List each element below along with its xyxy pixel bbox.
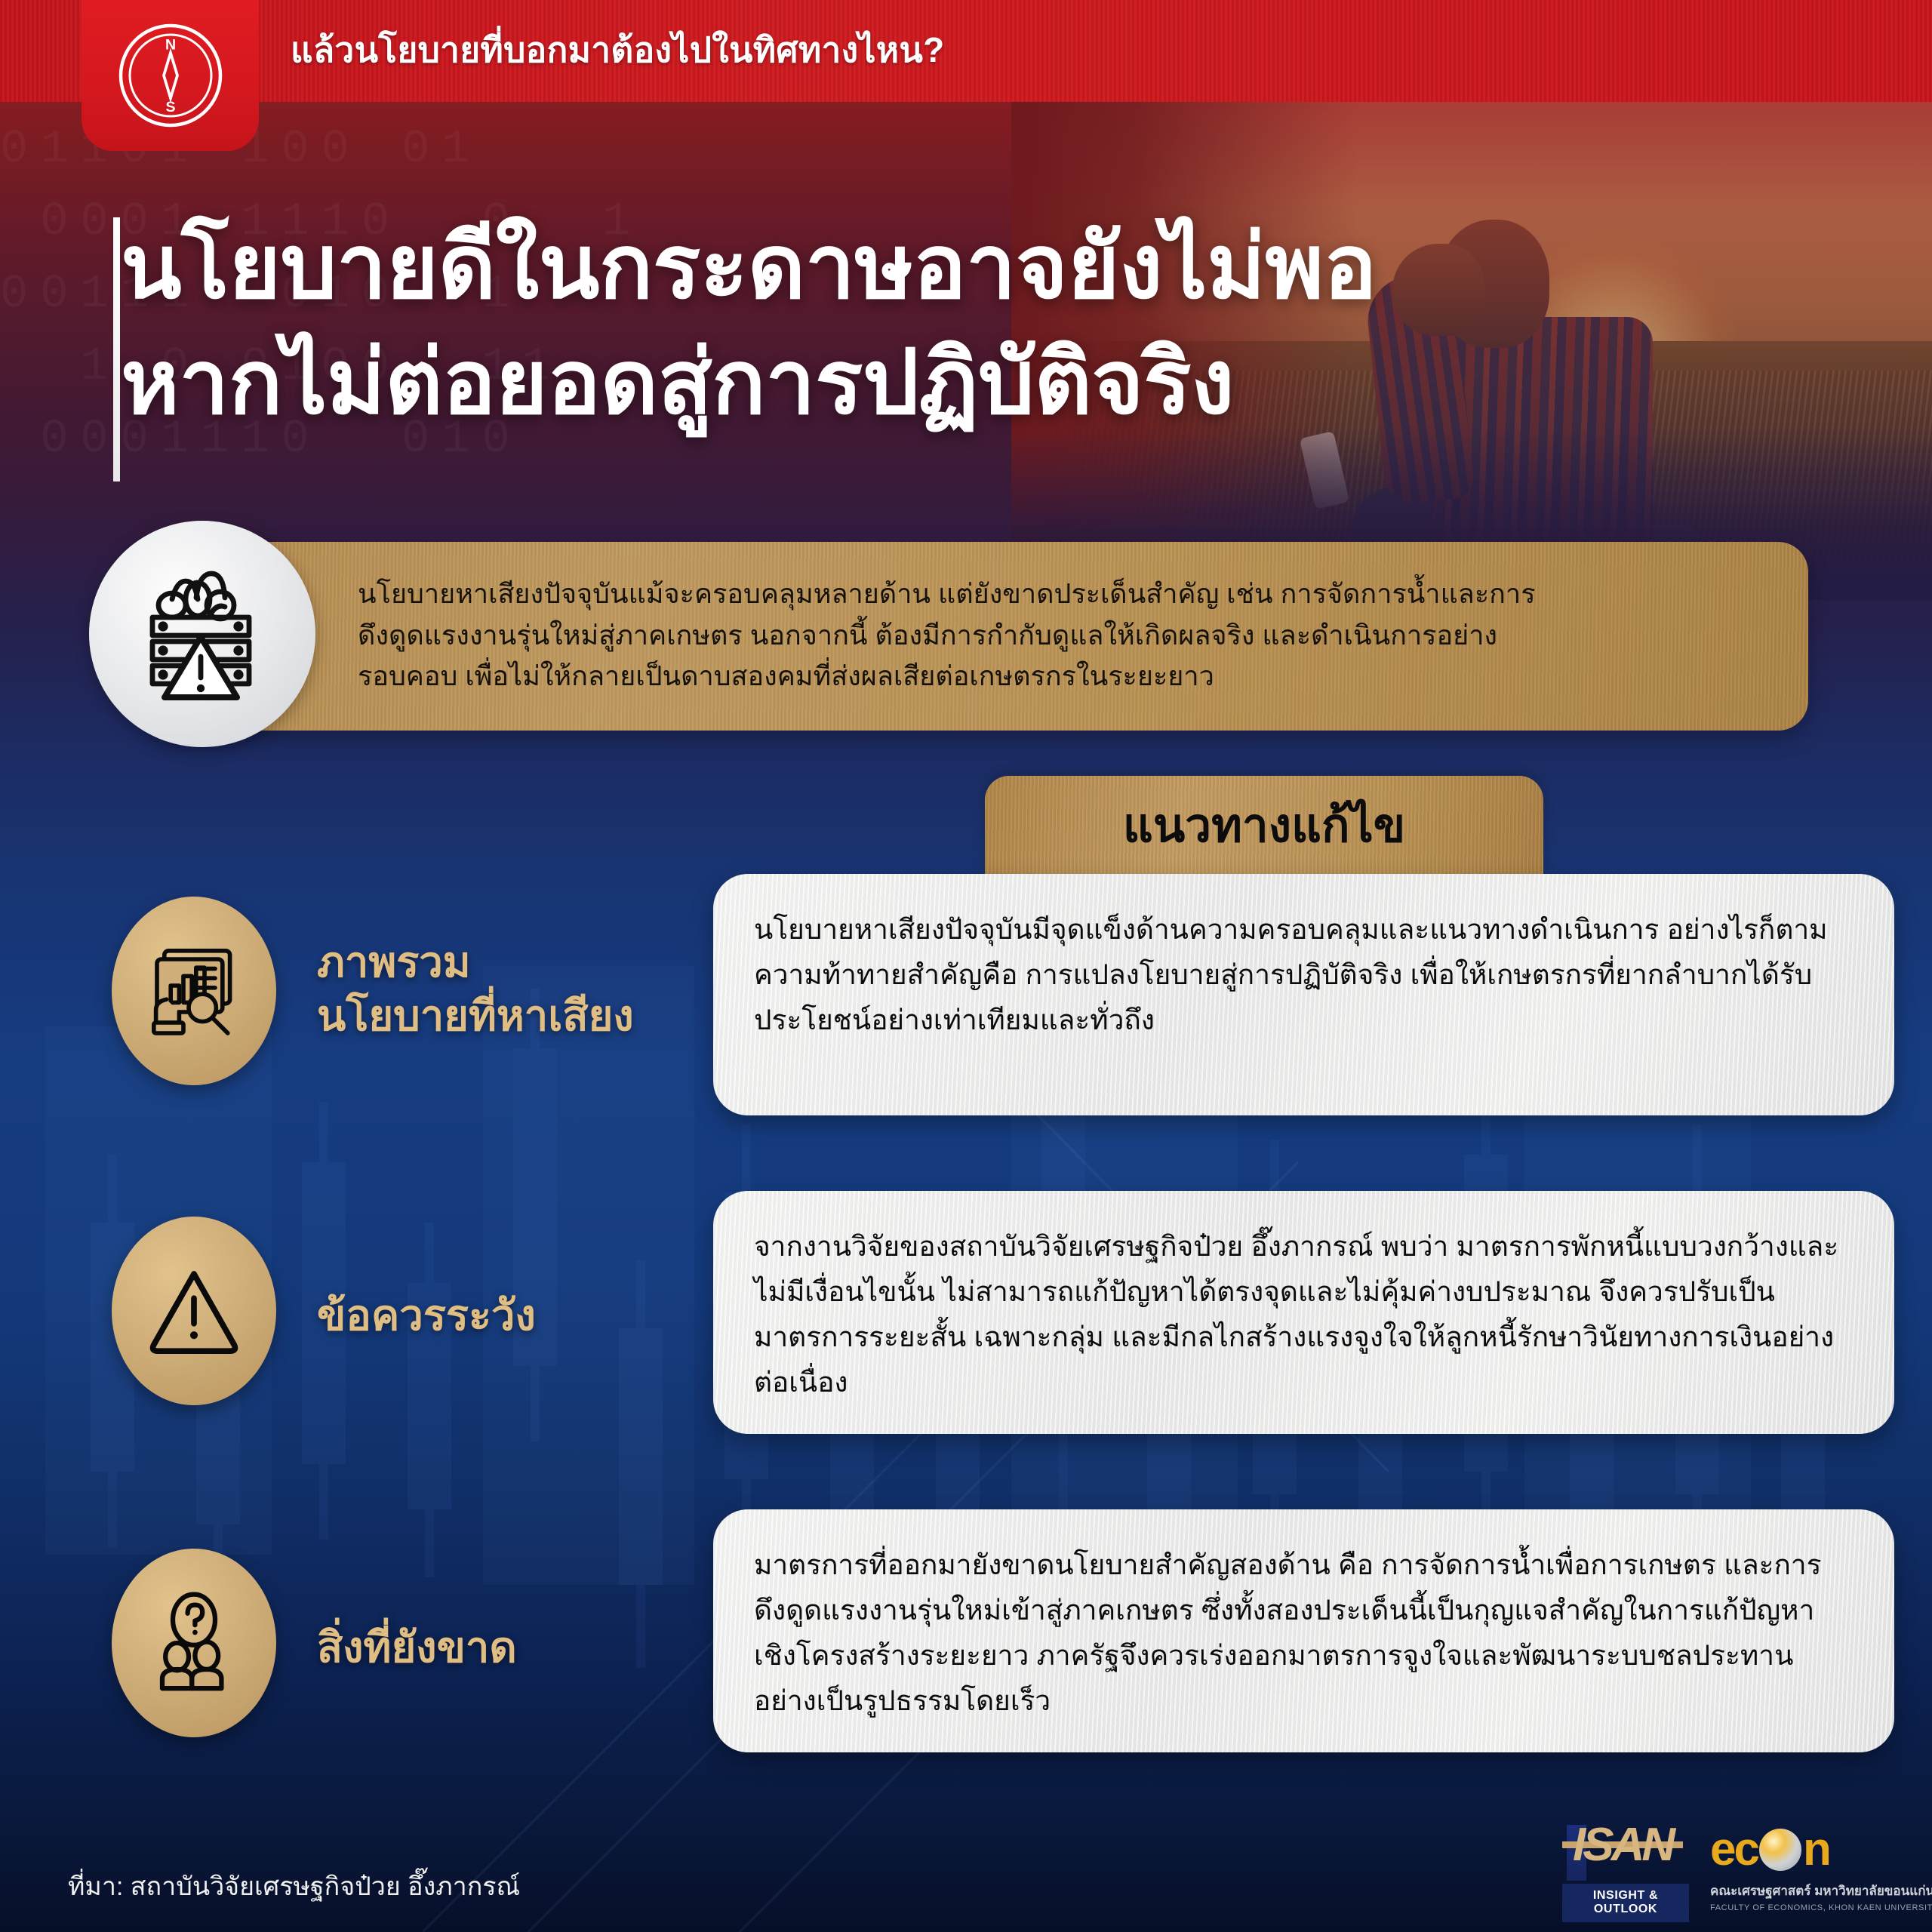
svg-text:N: N	[165, 37, 175, 54]
row-icon-circle-overview	[112, 897, 276, 1085]
econ-logo-subtitle-th: คณะเศรษฐศาสตร์ มหาวิทยาลัยขอนแก่น	[1710, 1881, 1885, 1901]
title-accent-bar	[113, 217, 120, 481]
isan-logo-mark: ISAN	[1573, 1822, 1672, 1869]
chart-presentation-magnifier-icon	[141, 938, 247, 1044]
row-label-caution-line1: ข้อควรระวัง	[317, 1289, 536, 1343]
summary-line-2: ดึงดูดแรงงานรุ่นใหม่สู่ภาคเกษตร นอกจากนี…	[358, 615, 1774, 657]
row-label-missing-line1: สิ่งที่ยังขาด	[317, 1621, 517, 1675]
econ-logo-mark: ec	[1710, 1826, 1758, 1873]
solution-card-missing-text: มาตรการที่ออกมายังขาดนโยบายสำคัญสองด้าน …	[754, 1543, 1846, 1724]
row-label-missing: สิ่งที่ยังขาด	[317, 1621, 517, 1675]
solution-card-caution: จากงานวิจัยของสถาบันวิจัยเศรษฐกิจป๋วย อึ…	[713, 1191, 1894, 1434]
header-eyebrow-title: แล้วนโยบายที่บอกมาต้องไปในทิศทางไหน?	[291, 23, 945, 78]
main-title-line-1: นโยบายดีในกระดาษอาจยังไม่พอ	[121, 210, 1377, 325]
solution-card-overview: นโยบายหาเสียงปัจจุบันมีจุดแข็งด้านความคร…	[713, 874, 1894, 1115]
solutions-banner-label: แนวทางแก้ไข	[1123, 789, 1405, 863]
isan-logo-tagline: INSIGHT & OUTLOOK	[1562, 1884, 1689, 1922]
svg-text:S: S	[165, 99, 175, 115]
summary-icon-circle	[89, 521, 315, 747]
solution-card-caution-text: จากงานวิจัยของสถาบันวิจัยเศรษฐกิจป๋วย อึ…	[754, 1224, 1846, 1405]
row-label-overview-line2: นโยบายที่หาเสียง	[317, 989, 634, 1043]
infographic-poster: 01101 100 01 0001 1110 0 1 00111 010 1 1…	[0, 0, 1932, 1932]
solution-card-overview-text: นโยบายหาเสียงปัจจุบันมีจุดแข็งด้านความคร…	[754, 907, 1846, 1043]
summary-text: นโยบายหาเสียงปัจจุบันแม้จะครอบคลุมหลายด้…	[358, 574, 1774, 697]
header-bar	[0, 0, 1932, 102]
main-title-line-2: หากไม่ต่อยอดสู่การปฏิบัติจริง	[121, 325, 1377, 441]
econ-logo-sphere-icon	[1759, 1829, 1801, 1871]
econ-logo-subtitle-en: FACULTY OF ECONOMICS, KHON KAEN UNIVERSI…	[1710, 1903, 1885, 1912]
row-label-overview: ภาพรวม นโยบายที่หาเสียง	[317, 936, 634, 1042]
people-question-icon	[141, 1590, 247, 1696]
source-credit: ที่มา: สถาบันวิจัยเศรษฐกิจป๋วย อึ๊งภากรณ…	[68, 1866, 520, 1906]
row-label-overview-line1: ภาพรวม	[317, 936, 634, 989]
warning-triangle-icon	[141, 1258, 247, 1364]
main-title: นโยบายดีในกระดาษอาจยังไม่พอ หากไม่ต่อยอด…	[121, 210, 1377, 441]
compass-badge: N S	[82, 0, 259, 151]
econ-logo-mark-tail: n	[1803, 1826, 1829, 1873]
summary-line-3: รอบคอบ เพื่อไม่ให้กลายเป็นดาบสองคมที่ส่ง…	[358, 656, 1774, 697]
produce-basket-warning-icon	[127, 558, 278, 709]
summary-line-1: นโยบายหาเสียงปัจจุบันแม้จะครอบคลุมหลายด้…	[358, 574, 1774, 615]
compass-icon: N S	[114, 19, 227, 132]
isan-logo: ISAN INSIGHT & OUTLOOK	[1562, 1825, 1689, 1922]
footer-logos: ISAN INSIGHT & OUTLOOK ec n คณะเศรษฐศาสต…	[1562, 1825, 1885, 1922]
row-label-caution: ข้อควรระวัง	[317, 1289, 536, 1343]
row-icon-circle-caution	[112, 1217, 276, 1405]
solutions-banner: แนวทางแก้ไข	[985, 776, 1543, 875]
row-icon-circle-missing	[112, 1549, 276, 1737]
solution-card-missing: มาตรการที่ออกมายังขาดนโยบายสำคัญสองด้าน …	[713, 1509, 1894, 1752]
econ-logo: ec n คณะเศรษฐศาสตร์ มหาวิทยาลัยขอนแก่น F…	[1710, 1825, 1885, 1912]
summary-box: นโยบายหาเสียงปัจจุบันแม้จะครอบคลุมหลายด้…	[148, 542, 1808, 731]
